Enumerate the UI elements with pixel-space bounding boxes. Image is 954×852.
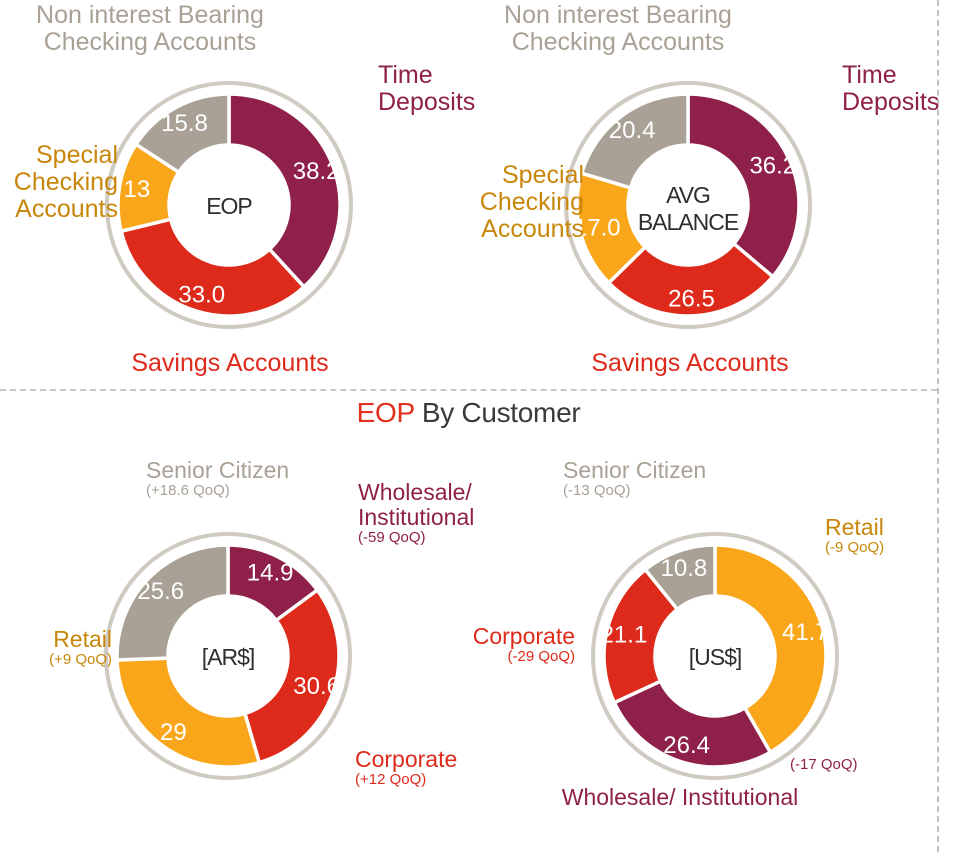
chart-avg-balance-by-product: 36.226.517.020.4AVGBALANCE Non interest … (470, 0, 937, 389)
label-corporate: Corporate (+12 QoQ) (355, 747, 457, 788)
label-time-deposits: Time Deposits (378, 62, 475, 116)
donut-center-label: BALANCE (638, 209, 739, 235)
chart-eop-by-product: 38.233.01315.8EOP Non interest Bearing C… (0, 0, 470, 389)
slice-value: 29 (160, 719, 187, 746)
label-corporate-qoq: (+12 QoQ) (355, 772, 457, 788)
slice-value: 38.2 (293, 158, 340, 185)
label-special-checking-accounts: Special Checking Accounts (0, 142, 118, 223)
label-senior-citizen: Senior Citizen (+18.6 QoQ) (146, 458, 289, 499)
slice-value: 26.4 (663, 732, 710, 759)
label-wholesale-institutional-qoq: (-17 QoQ) (790, 757, 858, 773)
donut-center-label: [US$] (689, 644, 742, 670)
label-wholesale-institutional: Wholesale/ Institutional (-59 QoQ) (358, 480, 474, 546)
label-senior-citizen-qoq: (+18.6 QoQ) (146, 483, 289, 499)
slice-value: 21.1 (601, 622, 648, 649)
section-title-highlight: EOP (357, 397, 415, 428)
label-wholesale-institutional: Wholesale/ Institutional (500, 785, 860, 810)
slice-value: 14.9 (247, 560, 294, 587)
label-retail-qoq: (-9 QoQ) (825, 540, 884, 556)
slice-value: 36.2 (749, 153, 796, 180)
slice-value: 33.0 (178, 281, 225, 308)
label-savings-accounts: Savings Accounts (540, 350, 840, 377)
slice-value: 41.7 (782, 619, 829, 646)
slice-value: 30.6 (293, 673, 340, 700)
label-retail: Retail (+9 QoQ) (0, 627, 112, 668)
slice-value: 10.8 (661, 555, 708, 582)
label-wholesale-institutional-qoq: (-59 QoQ) (358, 530, 474, 546)
panel-divider-vertical (937, 0, 939, 852)
label-noninterest-bearing-checking-accounts: Non interest Bearing Checking Accounts (488, 2, 748, 56)
label-senior-citizen: Senior Citizen (-13 QoQ) (563, 458, 706, 499)
chart-eop-by-customer-ars: 14.930.62925.6[AR$] Senior Citizen (+18.… (0, 440, 470, 852)
section-title: EOP By Customer (0, 397, 937, 429)
donut-center-label: AVG (666, 182, 710, 208)
label-time-deposits: Time Deposits (842, 62, 939, 116)
donut-center-label: [AR$] (202, 644, 255, 670)
slice-value: 26.5 (668, 285, 715, 312)
donut-center-label: EOP (206, 193, 252, 219)
label-retail-qoq: (+9 QoQ) (0, 652, 112, 668)
label-noninterest-bearing-checking-accounts: Non interest Bearing Checking Accounts (20, 2, 280, 56)
section-title-rest: By Customer (414, 397, 580, 428)
slice-value: 13 (123, 176, 150, 203)
label-retail: Retail (-9 QoQ) (825, 515, 884, 556)
slice-value: 20.4 (609, 117, 656, 144)
slice-value: 15.8 (161, 110, 208, 137)
label-senior-citizen-qoq: (-13 QoQ) (563, 483, 706, 499)
chart-eop-by-customer-usd: 41.726.421.110.8[US$] Senior Citizen (-1… (470, 440, 937, 852)
label-savings-accounts: Savings Accounts (80, 350, 380, 377)
label-corporate-qoq: (-29 QoQ) (460, 649, 575, 665)
label-corporate: Corporate (-29 QoQ) (460, 624, 575, 665)
panel-divider-horizontal (0, 389, 937, 391)
label-special-checking-accounts: Special Checking Accounts (464, 162, 584, 243)
slice-value: 25.6 (137, 578, 184, 605)
